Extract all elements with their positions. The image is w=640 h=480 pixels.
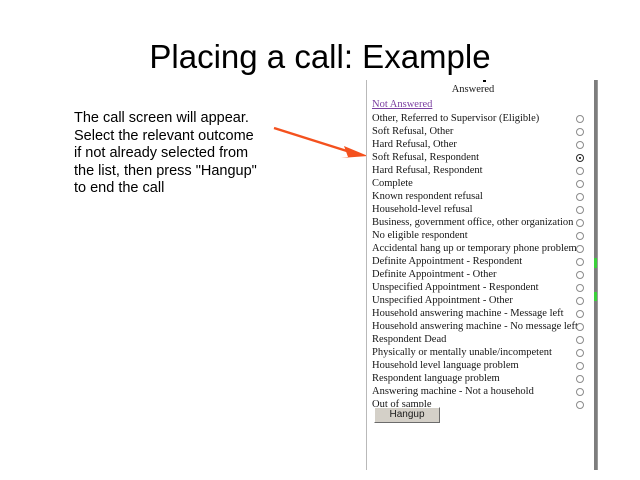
outcome-radio-button[interactable] bbox=[576, 401, 584, 409]
outcome-row[interactable]: Household answering machine - No message… bbox=[367, 320, 598, 333]
outcome-radio-button[interactable] bbox=[576, 206, 584, 214]
outcome-label: Hard Refusal, Other bbox=[372, 138, 457, 151]
vertical-scrollbar[interactable] bbox=[594, 80, 597, 470]
outcome-radio-button[interactable] bbox=[576, 141, 584, 149]
outcome-label: Household level language problem bbox=[372, 359, 519, 372]
outcome-label: Physically or mentally unable/incompeten… bbox=[372, 346, 552, 359]
outcome-label: Known respondent refusal bbox=[372, 190, 483, 203]
outcome-label: Household answering machine - Message le… bbox=[372, 307, 564, 320]
outcome-label: Respondent language problem bbox=[372, 372, 500, 385]
outcome-label: Complete bbox=[372, 177, 413, 190]
page-title: Placing a call: Example bbox=[0, 37, 640, 77]
outcome-radio-button[interactable] bbox=[576, 336, 584, 344]
outcome-label: Answering machine - Not a household bbox=[372, 385, 534, 398]
outcome-row[interactable]: Household answering machine - Message le… bbox=[367, 307, 598, 320]
outcome-radio-button[interactable] bbox=[576, 375, 584, 383]
outcome-row[interactable]: Soft Refusal, Other bbox=[367, 125, 598, 138]
outcome-label: Soft Refusal, Respondent bbox=[372, 151, 479, 164]
not-answered-link[interactable]: Not Answered bbox=[372, 99, 432, 110]
outcome-row[interactable]: Complete bbox=[367, 177, 598, 190]
outcome-row[interactable]: Respondent Dead bbox=[367, 333, 598, 346]
outcome-radio-button[interactable] bbox=[576, 115, 584, 123]
outcome-label: Other, Referred to Supervisor (Eligible) bbox=[372, 112, 539, 125]
instruction-line: to end the call bbox=[74, 180, 289, 198]
outcome-list: Other, Referred to Supervisor (Eligible)… bbox=[367, 112, 598, 411]
outcome-radio-button[interactable] bbox=[576, 271, 584, 279]
instruction-text: The call screen will appear. Select the … bbox=[74, 110, 289, 198]
outcome-radio-button[interactable] bbox=[576, 388, 584, 396]
outcome-radio-button[interactable] bbox=[576, 284, 584, 292]
outcome-radio-button[interactable] bbox=[576, 154, 584, 162]
outcome-radio-button[interactable] bbox=[576, 310, 584, 318]
outcome-row[interactable]: Hard Refusal, Other bbox=[367, 138, 598, 151]
outcome-row[interactable]: Soft Refusal, Respondent bbox=[367, 151, 598, 164]
outcome-row[interactable]: Unspecified Appointment - Respondent bbox=[367, 281, 598, 294]
outcome-row[interactable]: Known respondent refusal bbox=[367, 190, 598, 203]
outcome-label: Definite Appointment - Respondent bbox=[372, 255, 522, 268]
outcome-row[interactable]: Other, Referred to Supervisor (Eligible) bbox=[367, 112, 598, 125]
outcome-row[interactable]: Household-level refusal bbox=[367, 203, 598, 216]
hangup-button[interactable]: Hangup bbox=[374, 407, 440, 423]
outcome-row[interactable]: Unspecified Appointment - Other bbox=[367, 294, 598, 307]
outcome-label: Respondent Dead bbox=[372, 333, 446, 346]
outcome-row[interactable]: Respondent language problem bbox=[367, 372, 598, 385]
answered-section-header: Answered bbox=[367, 84, 579, 95]
outcome-row[interactable]: Accidental hang up or temporary phone pr… bbox=[367, 242, 598, 255]
call-screen-panel: Answered Not Answered Other, Referred to… bbox=[366, 80, 598, 470]
outcome-row[interactable]: Definite Appointment - Other bbox=[367, 268, 598, 281]
outcome-row[interactable]: No eligible respondent bbox=[367, 229, 598, 242]
instruction-line: Select the relevant outcome bbox=[74, 128, 289, 146]
outcome-radio-button[interactable] bbox=[576, 167, 584, 175]
instruction-line: the list, then press "Hangup" bbox=[74, 163, 289, 181]
outcome-radio-button[interactable] bbox=[576, 323, 584, 331]
outcome-label: Hard Refusal, Respondent bbox=[372, 164, 483, 177]
outcome-row[interactable]: Hard Refusal, Respondent bbox=[367, 164, 598, 177]
instruction-line: if not already selected from bbox=[74, 145, 289, 163]
outcome-radio-button[interactable] bbox=[576, 349, 584, 357]
outcome-label: Business, government office, other organ… bbox=[372, 216, 573, 229]
outcome-radio-button[interactable] bbox=[576, 180, 584, 188]
outcome-row[interactable]: Answering machine - Not a household bbox=[367, 385, 598, 398]
outcome-label: Household-level refusal bbox=[372, 203, 473, 216]
outcome-radio-button[interactable] bbox=[576, 245, 584, 253]
outcome-label: Unspecified Appointment - Respondent bbox=[372, 281, 539, 294]
outcome-row[interactable]: Business, government office, other organ… bbox=[367, 216, 598, 229]
outcome-row[interactable]: Household level language problem bbox=[367, 359, 598, 372]
outcome-label: Definite Appointment - Other bbox=[372, 268, 497, 281]
outcome-row[interactable]: Physically or mentally unable/incompeten… bbox=[367, 346, 598, 359]
outcome-label: Accidental hang up or temporary phone pr… bbox=[372, 242, 577, 255]
panel-caret-marker bbox=[483, 80, 486, 82]
scrollbar-mark bbox=[594, 258, 597, 268]
outcome-label: Household answering machine - No message… bbox=[372, 320, 578, 333]
outcome-label: Unspecified Appointment - Other bbox=[372, 294, 513, 307]
scrollbar-mark bbox=[594, 292, 597, 301]
outcome-radio-button[interactable] bbox=[576, 297, 584, 305]
outcome-radio-button[interactable] bbox=[576, 362, 584, 370]
instruction-line: The call screen will appear. bbox=[74, 110, 289, 128]
outcome-row[interactable]: Definite Appointment - Respondent bbox=[367, 255, 598, 268]
outcome-label: Soft Refusal, Other bbox=[372, 125, 453, 138]
outcome-label: No eligible respondent bbox=[372, 229, 468, 242]
outcome-radio-button[interactable] bbox=[576, 258, 584, 266]
outcome-radio-button[interactable] bbox=[576, 232, 584, 240]
outcome-radio-button[interactable] bbox=[576, 219, 584, 227]
outcome-radio-button[interactable] bbox=[576, 128, 584, 136]
outcome-radio-button[interactable] bbox=[576, 193, 584, 201]
